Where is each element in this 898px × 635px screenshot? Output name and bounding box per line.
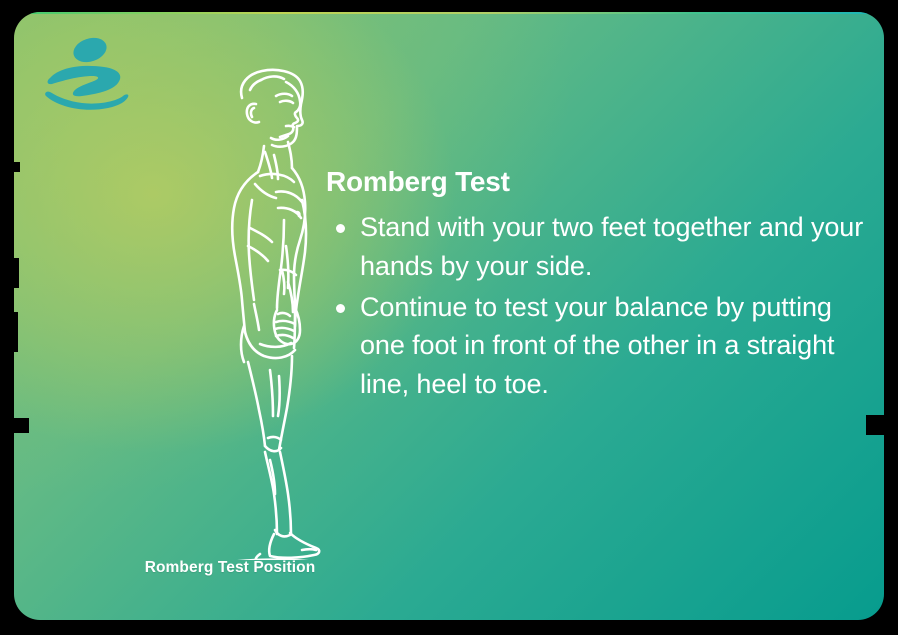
card-top-accent-line — [14, 12, 884, 14]
slide-card: Romberg Test Position Romberg Test Stand… — [14, 12, 884, 620]
content-text-block: Romberg Test Stand with your two feet to… — [312, 167, 872, 406]
figure-caption: Romberg Test Position — [142, 558, 318, 579]
bullet-text-1: Stand with your two feet together and yo… — [360, 212, 863, 281]
registration-notch-left-small-3 — [14, 312, 18, 352]
bullet-item-1: Stand with your two feet together and yo… — [312, 208, 872, 286]
registration-notch-left — [14, 418, 29, 433]
registration-notch-left-small-1 — [14, 162, 20, 172]
bullet-item-2: Continue to test your balance by putting… — [312, 288, 872, 405]
stylized-person-swoosh-logo — [38, 34, 134, 120]
bullet-text-2: Continue to test your balance by putting… — [360, 292, 834, 400]
registration-notch-left-small-2 — [14, 258, 19, 288]
bullet-dot-icon — [336, 224, 345, 233]
content-title: Romberg Test — [326, 167, 872, 198]
instruction-bullet-list: Stand with your two feet together and yo… — [312, 208, 872, 404]
bullet-dot-icon — [336, 304, 345, 313]
registration-notch-right — [866, 415, 884, 435]
